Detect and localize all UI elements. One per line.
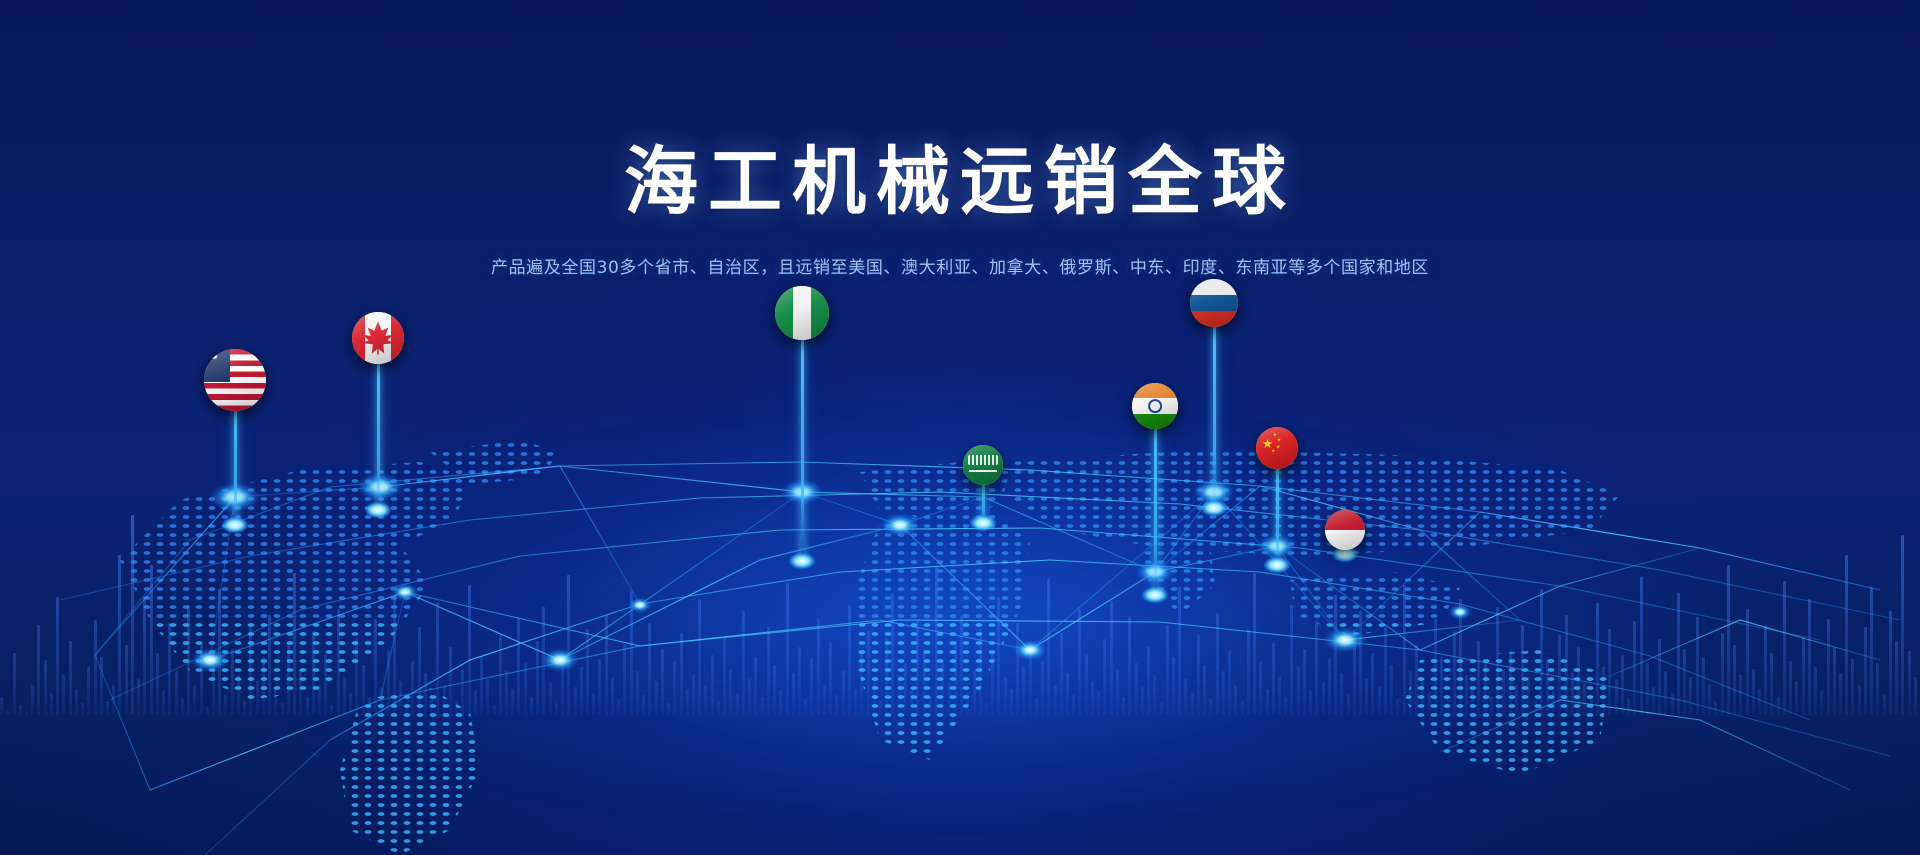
chart-bar <box>56 597 59 715</box>
chart-bar <box>1908 651 1911 715</box>
chart-bar <box>1789 661 1792 715</box>
chart-bar <box>1858 685 1861 715</box>
chart-bar <box>168 623 171 715</box>
pin-base-node <box>970 515 996 531</box>
chart-bar <box>150 565 153 715</box>
chart-bar <box>13 653 16 715</box>
chart-bar <box>81 703 84 715</box>
chart-bar <box>69 641 72 715</box>
chart-bar <box>1758 689 1761 715</box>
pin-stem <box>234 407 237 525</box>
chart-bar <box>1895 641 1898 715</box>
chart-bar <box>125 645 128 715</box>
chart-bar <box>62 675 65 715</box>
chart-bar <box>1770 653 1773 715</box>
chart-bar <box>1864 627 1867 715</box>
chart-bar <box>1777 697 1780 715</box>
chart-bar <box>1839 673 1842 715</box>
chart-bar <box>1746 609 1749 715</box>
pin-stem <box>1154 425 1157 595</box>
map-glow <box>210 410 1710 830</box>
headline-block: 海工机械远销全球 产品遍及全国30多个省市、自治区，且远销至美国、澳大利亚、加拿… <box>0 122 1920 278</box>
chart-bar <box>1833 647 1836 715</box>
chart-bar <box>1733 645 1736 715</box>
pin-base-node <box>789 553 815 569</box>
chart-bar <box>1870 587 1873 715</box>
chart-bar <box>1845 555 1848 715</box>
flag-icon-ca[interactable] <box>352 312 404 364</box>
chart-bar <box>1795 681 1798 715</box>
chart-bar <box>1714 701 1717 715</box>
page-subtitle: 产品遍及全国30多个省市、自治区，且远销至美国、澳大利亚、加拿大、俄罗斯、中东、… <box>0 253 1920 278</box>
flag-icon-us[interactable]: ★★★★★★★★★★★★★★★★★★★★★★★★★★★★★★ <box>204 349 266 411</box>
chart-bar <box>1901 535 1904 715</box>
chart-bar <box>1808 599 1811 715</box>
chart-bar <box>162 691 165 715</box>
chart-bar <box>1827 619 1830 715</box>
chart-bar <box>1802 637 1805 715</box>
chart-bar <box>1752 669 1755 715</box>
pin-base-node <box>365 502 391 518</box>
chart-bar <box>31 685 34 715</box>
pin-stem <box>1213 323 1216 508</box>
pin-base-node <box>222 517 248 533</box>
chart-bar <box>75 689 78 715</box>
chart-bar <box>50 693 53 715</box>
pin-stem <box>1276 465 1279 565</box>
chart-bar <box>0 697 3 715</box>
chart-bar <box>1783 581 1786 715</box>
page-title: 海工机械远销全球 <box>0 122 1920 229</box>
chart-bar <box>131 515 134 715</box>
banner-hero: ★★★★★★★★★★★★★★★★★★★★★★★★★★★★★★★★★★★ 海工机械… <box>0 0 1920 855</box>
chart-bar <box>143 597 146 715</box>
pin-stem <box>377 360 380 510</box>
chart-bar <box>206 707 209 715</box>
chart-bar <box>1739 675 1742 715</box>
chart-bar <box>187 605 190 715</box>
pin-base-node <box>1201 500 1227 516</box>
chart-bar <box>137 679 140 715</box>
flag-icon-cn[interactable]: ★★★★★ <box>1256 427 1298 469</box>
chart-bar <box>200 643 203 715</box>
chart-bar <box>19 705 22 715</box>
chart-bar <box>193 685 196 715</box>
pin-base-node <box>1264 557 1290 573</box>
chart-bar <box>112 685 115 715</box>
chart-bar <box>181 699 184 715</box>
flag-icon-in[interactable] <box>1132 383 1178 429</box>
chart-bar <box>1914 677 1917 715</box>
chart-bar <box>118 555 121 715</box>
chart-bar <box>106 701 109 715</box>
flag-icon-id[interactable] <box>1325 510 1365 550</box>
chart-bar <box>37 625 40 715</box>
chart-bar <box>87 667 90 715</box>
flag-icon-ru[interactable] <box>1190 279 1238 327</box>
chart-bar <box>1721 633 1724 715</box>
pin-base-node <box>1142 587 1168 603</box>
flag-icon-sa[interactable] <box>963 445 1003 485</box>
chart-bar <box>1727 565 1730 715</box>
flag-icon-ng[interactable] <box>775 286 829 340</box>
chart-bar <box>1814 667 1817 715</box>
chart-bar <box>175 671 178 715</box>
chart-bar <box>25 713 28 715</box>
chart-bar <box>94 620 97 715</box>
chart-bar <box>44 660 47 715</box>
chart-bar <box>6 711 9 715</box>
chart-bar <box>1883 695 1886 715</box>
chart-bar <box>1764 625 1767 715</box>
chart-bar <box>1889 611 1892 715</box>
chart-bar <box>1820 691 1823 715</box>
chart-bar <box>100 657 103 715</box>
chart-bar <box>1876 663 1879 715</box>
pin-stem <box>801 336 804 561</box>
chart-bar <box>1851 659 1854 715</box>
chart-bar <box>156 653 159 715</box>
